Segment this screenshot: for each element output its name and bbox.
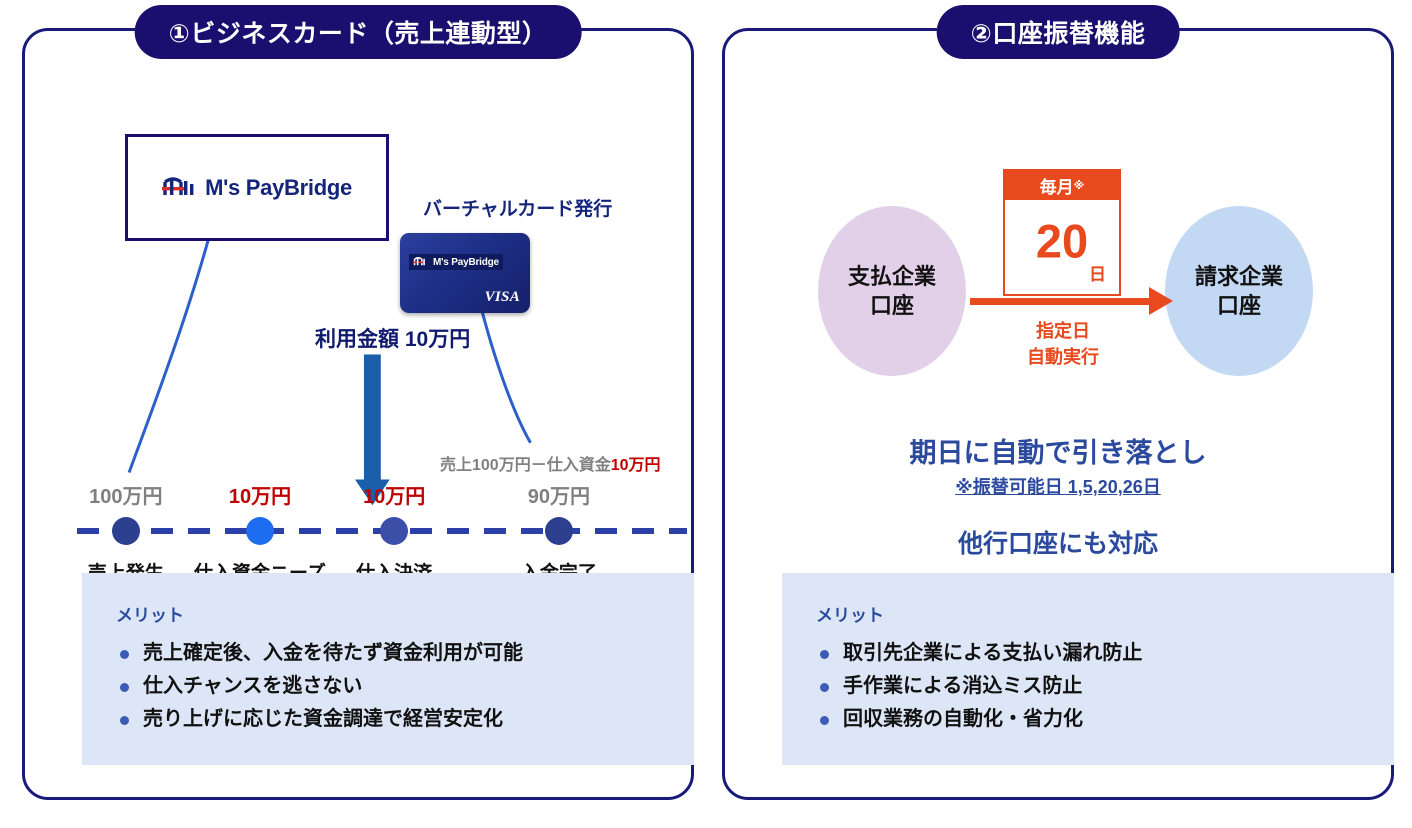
usage-amount-label: 利用金額 10万円 [315,323,470,353]
arrow-label-line2: 自動実行 [1027,344,1099,370]
virtual-card-issue-label: バーチャルカード発行 [423,194,612,221]
merit-item: 売り上げに応じた資金調達で経営安定化 [116,703,660,736]
timeline-node-dot [380,517,408,545]
calendar-day-number: 20 [1036,218,1088,265]
timeline-node-dot [112,517,140,545]
brand-logo-text: M's PayBridge [205,175,352,201]
timeline-node-dot [246,517,274,545]
bridge-icon [162,175,196,201]
merit-item: 回収業務の自動化・省力化 [816,703,1360,736]
merit-list: 売上確定後、入金を待たず資金利用が可能仕入チャンスを逃さない売り上げに応じた資金… [116,637,660,736]
payer-account-line1: 支払企業 [848,262,936,291]
calc-prefix: 売上100万円－仕入資金 [440,457,611,474]
calendar-day-unit: 日 [1089,260,1106,285]
timeline-amount-label: 90万円 [528,480,590,509]
biller-account-line2: 口座 [1217,291,1261,320]
panel-title-business-card: ①ビジネスカード（売上連動型） [135,5,582,59]
net-calculation-label: 売上100万円－仕入資金10万円 [440,451,661,475]
calendar-header: 毎月※ [1005,171,1119,200]
business-card-panel: ①ビジネスカード（売上連動型） M's PayBridge [22,28,694,800]
timeline-amount-label: 10万円 [363,480,425,509]
merit-box-left: メリット 売上確定後、入金を待たず資金利用が可能仕入チャンスを逃さない売り上げに… [82,573,694,765]
calendar-header-text: 毎月 [1040,173,1074,198]
bridge-icon-small [413,256,429,268]
card-logo-text: M's PayBridge [433,257,499,268]
merit-item: 取引先企業による支払い漏れ防止 [816,637,1360,670]
merit-item: 手作業による消込ミス防止 [816,670,1360,703]
visa-logo: VISA [485,289,520,306]
timeline-amount-label: 100万円 [89,480,162,509]
calc-highlight: 10万円 [611,457,661,474]
merit-title: メリット [816,601,1360,626]
payer-account-ellipse: 支払企業 口座 [818,206,966,376]
merit-title: メリット [116,601,660,626]
merit-box-right: メリット 取引先企業による支払い漏れ防止手作業による消込ミス防止回収業務の自動化… [782,573,1394,765]
arrow-label-line1: 指定日 [1027,318,1099,344]
payer-account-line2: 口座 [870,291,914,320]
transfer-arrow-line [970,298,1155,305]
brand-logo-box: M's PayBridge [125,134,389,241]
calendar-body: 20 日 [1005,200,1119,294]
calendar-widget: 毎月※ 20 日 [1003,169,1121,296]
sales-timeline: 100万円売上発生10万円仕入資金ニーズ10万円仕入決済90万円入金完了 [77,528,687,534]
timeline-node-dot [545,517,573,545]
calendar-footnote-mark: ※ [1074,179,1085,192]
transfer-arrow-head [1149,287,1173,315]
merit-item: 仕入チャンスを逃さない [116,670,660,703]
merit-list: 取引先企業による支払い漏れ防止手作業による消込ミス防止回収業務の自動化・省力化 [816,637,1360,736]
biller-account-line1: 請求企業 [1195,262,1283,291]
timeline-amount-label: 10万円 [229,480,291,509]
panel-title-account-transfer: ②口座振替機能 [937,5,1180,59]
other-bank-support-headline: 他行口座にも対応 [958,524,1158,560]
auto-debit-headline: 期日に自動で引き落とし [910,431,1207,470]
transfer-arrow-label: 指定日 自動実行 [1027,318,1099,370]
auto-debit-note: ※振替可能日 1,5,20,26日 [955,473,1161,499]
card-brand-logo: M's PayBridge [409,254,503,270]
account-transfer-panel: ②口座振替機能 支払企業 口座 請求企業 口座 毎月※ 20 日 指定日 自動実… [722,28,1394,800]
biller-account-ellipse: 請求企業 口座 [1165,206,1313,376]
merit-item: 売上確定後、入金を待たず資金利用が可能 [116,637,660,670]
virtual-credit-card: M's PayBridge VISA [400,233,530,313]
